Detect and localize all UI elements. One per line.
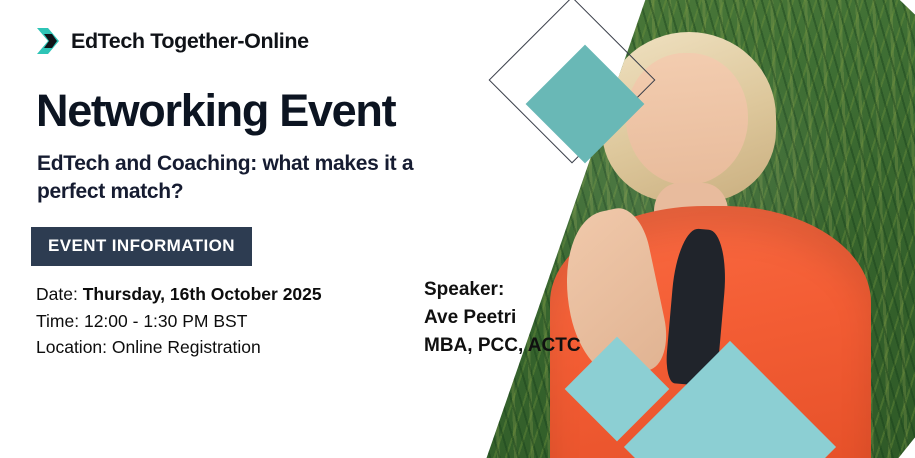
event-details: Date: Thursday, 16th October 2025 Time: … [36, 281, 322, 361]
event-date-value: Thursday, 16th October 2025 [83, 284, 322, 304]
event-time-label: Time: [36, 311, 84, 331]
event-time-value: 12:00 - 1:30 PM BST [84, 311, 247, 331]
event-information-badge: EVENT INFORMATION [31, 227, 252, 266]
speaker-name: Ave Peetri [424, 304, 581, 332]
event-date-row: Date: Thursday, 16th October 2025 [36, 281, 322, 308]
chevron-arrow-logo-icon [36, 26, 62, 56]
event-date-label: Date: [36, 284, 83, 304]
event-banner: EdTech Together-Online Networking Event … [0, 0, 915, 458]
speaker-label: Speaker: [424, 276, 581, 304]
event-location-row: Location: Online Registration [36, 334, 322, 361]
event-location-value: Online Registration [112, 337, 261, 357]
event-time-row: Time: 12:00 - 1:30 PM BST [36, 308, 322, 335]
event-location-label: Location: [36, 337, 112, 357]
brand-name: EdTech Together-Online [71, 29, 309, 54]
content-column: EdTech Together-Online Networking Event … [0, 0, 480, 458]
speaker-block: Speaker: Ave Peetri MBA, PCC, ACTC [424, 276, 581, 360]
speaker-credentials: MBA, PCC, ACTC [424, 332, 581, 360]
page-subtitle: EdTech and Coaching: what makes it a per… [37, 150, 477, 206]
page-title: Networking Event [36, 88, 395, 133]
brand-logo[interactable]: EdTech Together-Online [36, 26, 309, 56]
